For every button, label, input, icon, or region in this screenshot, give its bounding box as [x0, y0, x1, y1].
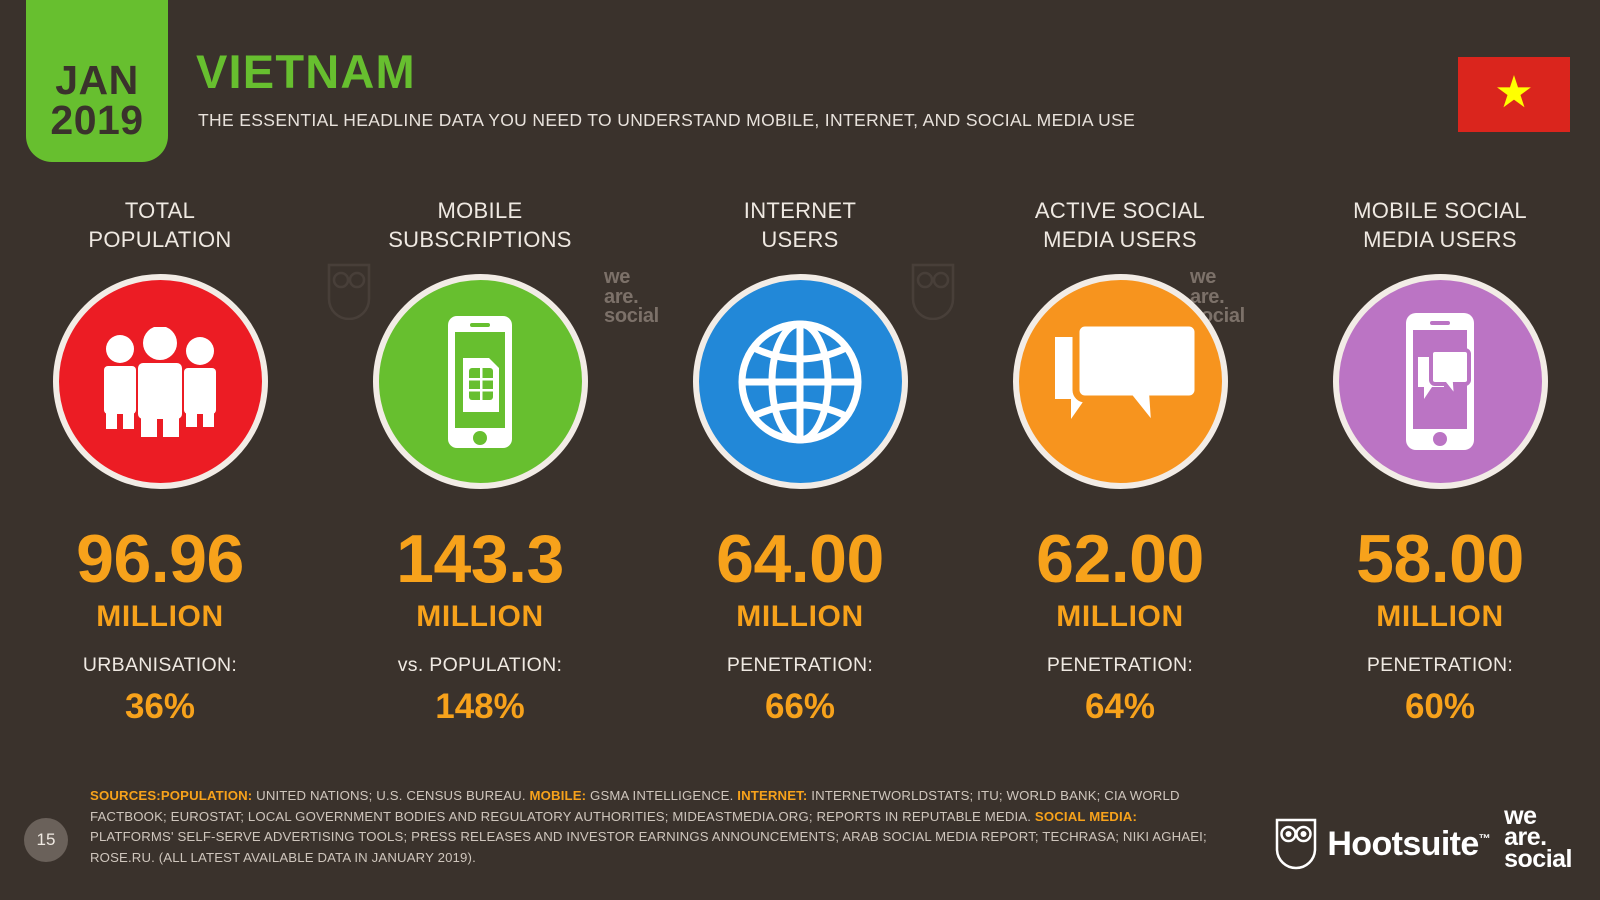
metric-sublabel: PENETRATION:	[1047, 654, 1193, 677]
hootsuite-name: Hootsuite	[1327, 825, 1478, 863]
metric-unit: MILLION	[736, 602, 864, 632]
metric-heading-line1: ACTIVE SOCIAL	[1035, 196, 1205, 225]
metric-heading: INTERNET USERS	[744, 196, 856, 260]
metric-heading-line2: USERS	[744, 225, 856, 254]
watermark-we: we	[604, 268, 659, 288]
metric-unit: MILLION	[1376, 602, 1504, 632]
date-badge: JAN 2019	[26, 0, 168, 162]
metric-heading: ACTIVE SOCIAL MEDIA USERS	[1035, 196, 1205, 260]
metric-heading-line2: SUBSCRIPTIONS	[388, 225, 572, 254]
we-are-social-logo: we are. social	[1504, 806, 1572, 871]
owl-watermark-icon	[910, 262, 956, 320]
metrics-row: TOTAL POPULATION	[0, 196, 1600, 776]
metric-heading-line1: MOBILE	[388, 196, 572, 225]
globe-icon	[730, 312, 870, 452]
sources-key-mobile: MOBILE:	[529, 788, 586, 803]
people-icon	[95, 327, 225, 437]
metric-value: 64.00	[716, 525, 884, 593]
metric-value: 62.00	[1036, 525, 1204, 593]
metric-column-total-population: TOTAL POPULATION	[0, 196, 320, 776]
metric-icon-circle	[53, 274, 268, 489]
infographic-slide: JAN 2019 VIETNAM THE ESSENTIAL HEADLINE …	[0, 0, 1600, 900]
hootsuite-logo: Hootsuite™	[1275, 818, 1490, 870]
hootsuite-wordmark: Hootsuite™	[1327, 827, 1490, 861]
country-title: VIETNAM	[196, 48, 416, 95]
metric-icon-circle	[1333, 274, 1548, 489]
metric-subvalue: 60%	[1405, 689, 1475, 724]
metric-icon-circle	[693, 274, 908, 489]
phone-sim-icon	[420, 312, 540, 452]
metric-unit: MILLION	[1056, 602, 1184, 632]
phone-chat-icon	[1380, 309, 1500, 454]
watermark-social: social	[604, 307, 659, 327]
slide-subtitle: THE ESSENTIAL HEADLINE DATA YOU NEED TO …	[198, 110, 1135, 131]
sources-key-internet: INTERNET:	[737, 788, 807, 803]
metric-sublabel: vs. POPULATION:	[398, 654, 563, 677]
watermark-we: we	[1190, 268, 1245, 288]
sources-key-social-media: SOCIAL MEDIA:	[1035, 809, 1137, 824]
metric-heading-line1: TOTAL	[88, 196, 231, 225]
metric-value: 58.00	[1356, 525, 1524, 593]
metric-heading-line1: INTERNET	[744, 196, 856, 225]
metric-icon-circle	[1013, 274, 1228, 489]
metric-subvalue: 64%	[1085, 689, 1155, 724]
page-number-badge: 15	[24, 818, 68, 862]
metric-heading: MOBILE SUBSCRIPTIONS	[388, 196, 572, 260]
owl-watermark-icon	[326, 262, 372, 320]
metric-sublabel: URBANISATION:	[83, 654, 237, 677]
metric-value: 96.96	[76, 525, 244, 593]
metric-subvalue: 36%	[125, 689, 195, 724]
brand-logos: Hootsuite™ we are. social	[1275, 806, 1572, 871]
flag-star-icon: ★	[1494, 71, 1533, 115]
sources-text-population: UNITED NATIONS; U.S. CENSUS BUREAU.	[252, 788, 529, 803]
hootsuite-tm: ™	[1479, 832, 1490, 846]
metric-subvalue: 148%	[435, 689, 525, 724]
metric-heading: TOTAL POPULATION	[88, 196, 231, 260]
speech-bubbles-icon	[1045, 319, 1195, 444]
metric-unit: MILLION	[96, 602, 224, 632]
sources-text-social-media: PLATFORMS' SELF-SERVE ADVERTISING TOOLS;…	[90, 829, 1207, 864]
sources-text-mobile: GSMA INTELLIGENCE.	[586, 788, 737, 803]
sources-label: SOURCES:	[90, 788, 161, 803]
metric-heading-line2: MEDIA USERS	[1035, 225, 1205, 254]
metric-column-mobile-social-media-users: MOBILE SOCIAL MEDIA USERS 58.00 MILLION …	[1280, 196, 1600, 776]
date-month: JAN	[55, 60, 139, 100]
date-year: 2019	[50, 100, 143, 140]
metric-heading-line2: MEDIA USERS	[1353, 225, 1527, 254]
metric-heading-line1: MOBILE SOCIAL	[1353, 196, 1527, 225]
metric-icon-circle	[373, 274, 588, 489]
metric-value: 143.3	[396, 525, 564, 593]
metric-heading-line2: POPULATION	[88, 225, 231, 254]
metric-unit: MILLION	[416, 602, 544, 632]
metric-sublabel: PENETRATION:	[727, 654, 873, 677]
metric-heading: MOBILE SOCIAL MEDIA USERS	[1353, 196, 1527, 260]
sources-key-population: POPULATION:	[161, 788, 253, 803]
sources-text: SOURCES:POPULATION: UNITED NATIONS; U.S.…	[90, 786, 1210, 868]
metric-subvalue: 66%	[765, 689, 835, 724]
owl-logo-icon	[1275, 818, 1317, 870]
vietnam-flag-icon: ★	[1458, 57, 1570, 132]
we-are-social-watermark: we are. social	[604, 268, 659, 327]
metric-sublabel: PENETRATION:	[1367, 654, 1513, 677]
was-logo-social: social	[1504, 849, 1572, 871]
